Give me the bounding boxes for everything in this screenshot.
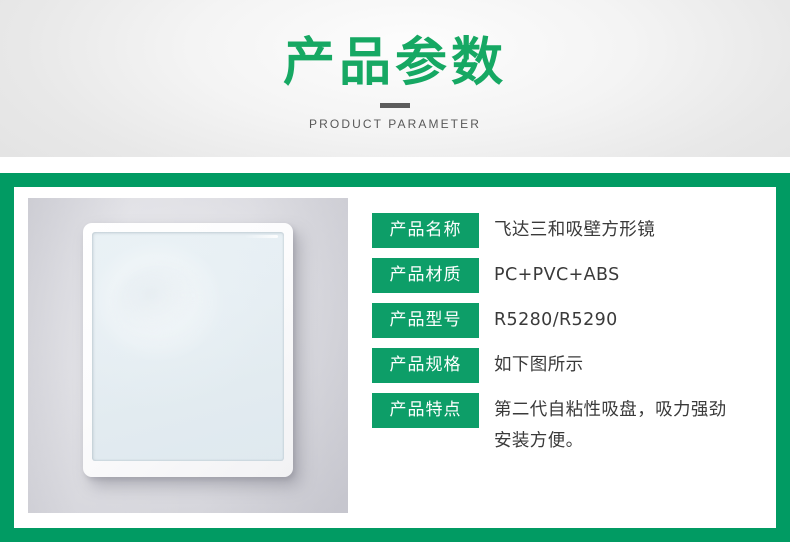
table-row: 产品特点 第二代自粘性吸盘，吸力强劲 安装方便。 [372, 393, 754, 457]
spec-label-product-name: 产品名称 [372, 213, 479, 248]
spec-value-material: PC+PVC+ABS [479, 258, 754, 293]
title-divider [380, 103, 410, 108]
spec-label-material: 产品材质 [372, 258, 479, 293]
mirror-highlight [244, 235, 278, 238]
page-subtitle: PRODUCT PARAMETER [0, 117, 790, 131]
spec-label-size: 产品规格 [372, 348, 479, 383]
mirror-glass [92, 232, 284, 461]
table-row: 产品型号 R5280/R5290 [372, 303, 754, 338]
product-photo [28, 198, 348, 513]
product-parameter-page: 产品参数 PRODUCT PARAMETER 产品名称 [0, 0, 790, 542]
spec-label-features: 产品特点 [372, 393, 479, 428]
spec-label-model: 产品型号 [372, 303, 479, 338]
spec-value-model: R5280/R5290 [479, 303, 754, 338]
spec-table: 产品名称 飞达三和吸壁方形镜 产品材质 PC+PVC+ABS 产品型号 R528… [372, 213, 754, 467]
content-frame-inner: 产品名称 飞达三和吸壁方形镜 产品材质 PC+PVC+ABS 产品型号 R528… [14, 187, 776, 528]
page-title: 产品参数 [0, 0, 790, 93]
spec-value-product-name: 飞达三和吸壁方形镜 [479, 213, 754, 248]
mirror-product-image [83, 223, 293, 477]
page-header: 产品参数 PRODUCT PARAMETER [0, 0, 790, 157]
table-row: 产品规格 如下图所示 [372, 348, 754, 383]
spec-value-features: 第二代自粘性吸盘，吸力强劲 安装方便。 [479, 393, 754, 457]
spec-value-size: 如下图所示 [479, 348, 754, 383]
content-frame: 产品名称 飞达三和吸壁方形镜 产品材质 PC+PVC+ABS 产品型号 R528… [0, 173, 790, 542]
table-row: 产品名称 飞达三和吸壁方形镜 [372, 213, 754, 248]
header-content: 产品参数 PRODUCT PARAMETER [0, 0, 790, 131]
table-row: 产品材质 PC+PVC+ABS [372, 258, 754, 293]
